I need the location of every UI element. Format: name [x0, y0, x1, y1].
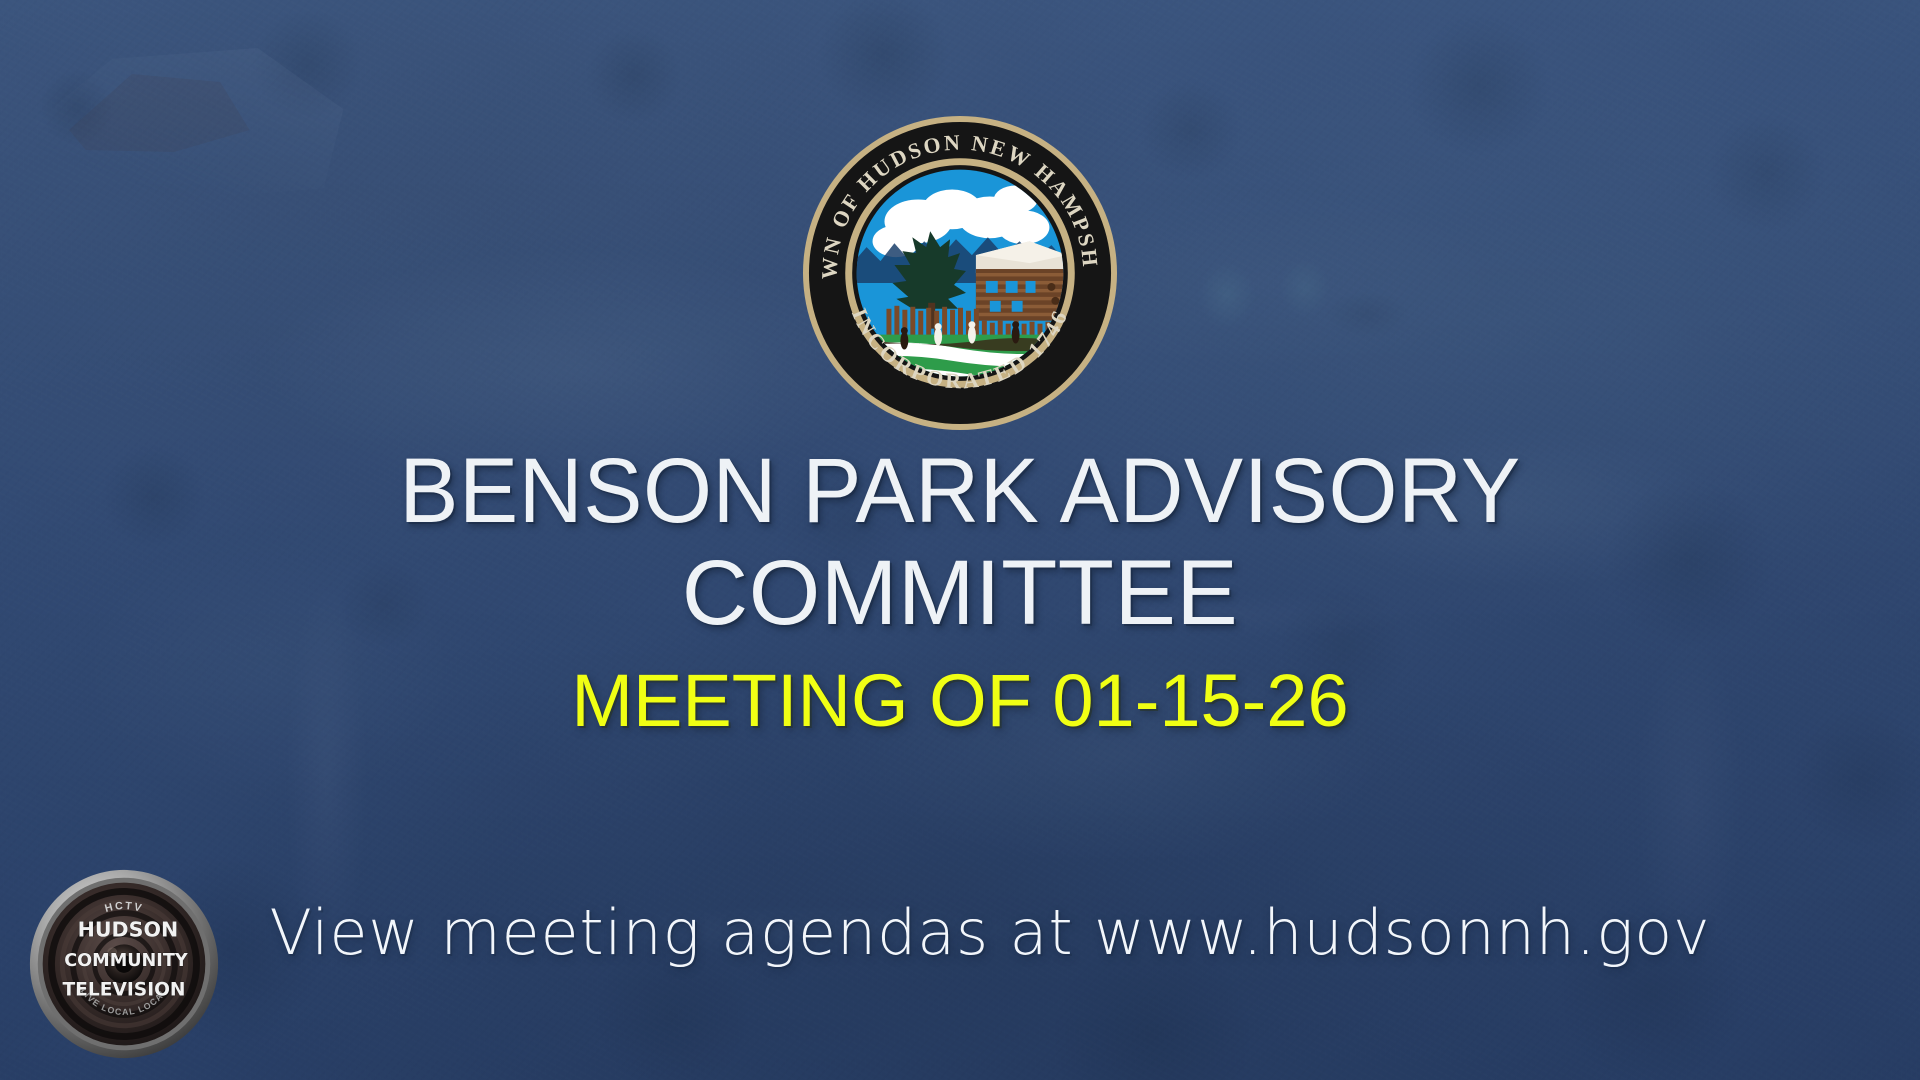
broadcast-title-slate: TOWN OF HUDSON NEW HAMPSHIRE INCORPORATE… — [0, 0, 1920, 1080]
agenda-website-line: View meeting agendas at www.hudsonnh.gov — [0, 900, 1920, 966]
hctv-line-1: HUDSON — [78, 918, 179, 942]
committee-title-line-1: BENSON PARK ADVISORY — [34, 445, 1887, 537]
town-seal: TOWN OF HUDSON NEW HAMPSHIRE INCORPORATE… — [801, 114, 1119, 432]
hctv-line-3: TELEVISION — [62, 979, 185, 1000]
hctv-line-2: COMMUNITY — [64, 951, 188, 971]
hctv-logo: HCTV LIVE LOCAL LOCAL HUDSON COMMUNITY T… — [26, 866, 222, 1062]
committee-title-line-2: COMMITTEE — [0, 547, 1920, 639]
meeting-date-line: MEETING OF 01-15-26 — [0, 663, 1920, 739]
title-block: BENSON PARK ADVISORY COMMITTEE MEETING O… — [0, 445, 1920, 739]
